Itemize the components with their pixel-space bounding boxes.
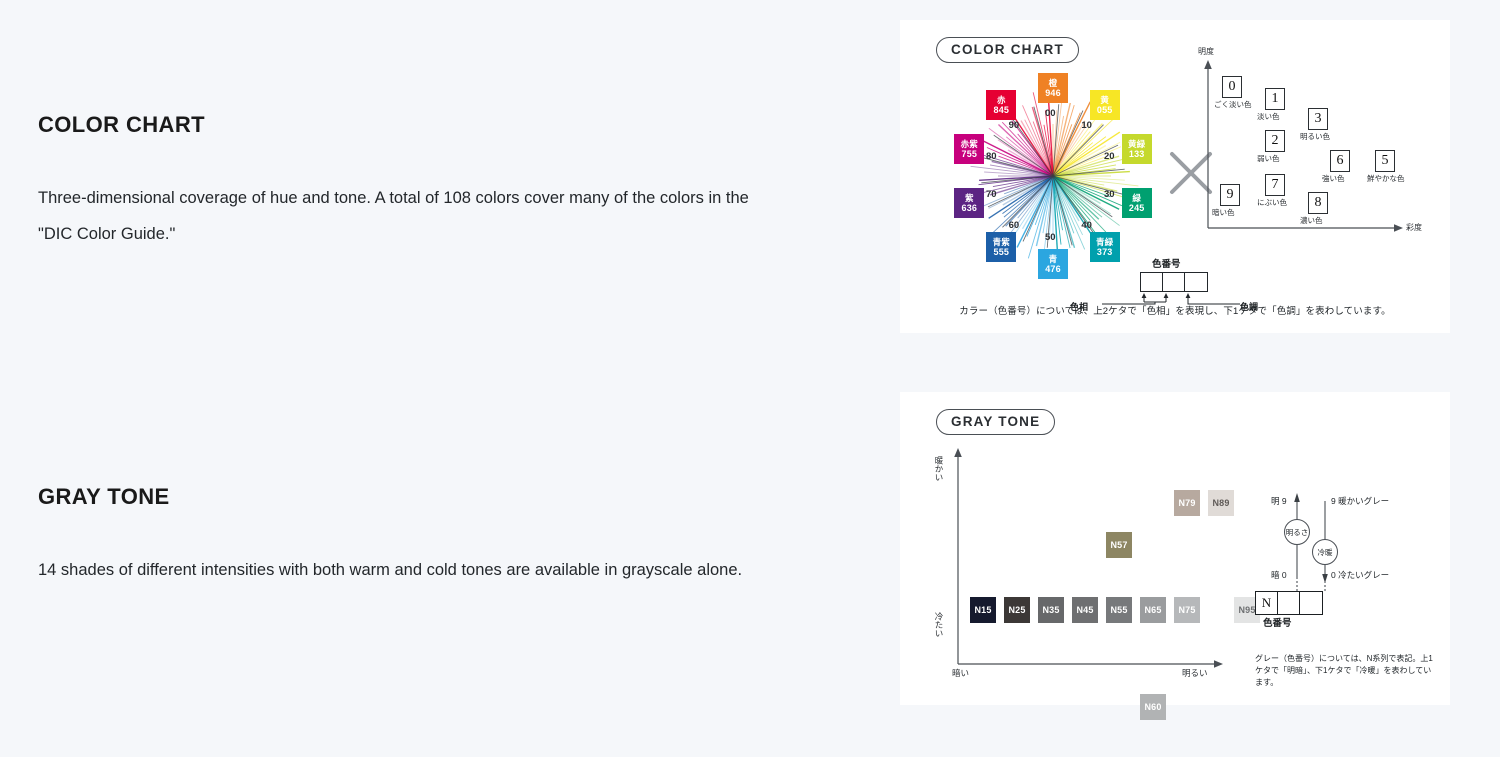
color-code-boxes: [1140, 272, 1208, 292]
gray-axis-top-label: 暖かい: [934, 456, 944, 482]
hue-swatch-jp-label: 黄: [1100, 95, 1109, 105]
color-chart-caption: カラー（色番号）については、上2ケタで「色相」を表現し、下1ケタで「色調」を表わ…: [900, 303, 1450, 317]
gray-code-caption: 色番号: [1263, 615, 1292, 629]
tone-box-1: 1: [1265, 88, 1285, 110]
hue-swatch-number: 476: [1045, 264, 1061, 274]
tone-box-0: 0: [1222, 76, 1242, 98]
hue-swatch-number: 245: [1129, 203, 1145, 213]
hue-swatch-jp-label: 青緑: [1096, 237, 1113, 247]
tone-caption-6: 強い色: [1322, 173, 1345, 184]
hue-swatch-133: 黄緑133: [1122, 134, 1152, 164]
n-cell-prefix: N: [1256, 592, 1278, 614]
gray-axis-bottom-label: 冷たい: [934, 612, 944, 638]
hue-swatch-jp-label: 橙: [1049, 78, 1058, 88]
hue-swatch-number: 636: [961, 203, 977, 213]
gray-code-legend: 明 9 暗 0 9 暖かいグレー 0 冷たいグレー 明るさ 冷暖 N 色番号 グ…: [1255, 487, 1435, 667]
hue-swatch-jp-label: 紫: [965, 193, 974, 203]
hue-number-label-00: 00: [1045, 108, 1056, 119]
gray-swatch-N60: N60: [1140, 694, 1166, 720]
hue-swatch-555: 青紫555: [986, 232, 1016, 262]
gray-swatch-N79: N79: [1174, 490, 1200, 516]
hue-swatch-476: 青476: [1038, 249, 1068, 279]
hue-swatch-845: 赤845: [986, 90, 1016, 120]
text-column: COLOR CHART Three-dimensional coverage o…: [0, 0, 880, 757]
gray-swatch-N15: N15: [970, 597, 996, 623]
gray-axis-right-label: 明るい: [1182, 668, 1208, 678]
tone-box-3: 3: [1308, 108, 1328, 130]
hue-swatch-245: 緑245: [1122, 188, 1152, 218]
gray-swatch-N89: N89: [1208, 490, 1234, 516]
hue-swatch-jp-label: 赤: [997, 95, 1006, 105]
gray-swatch-N57: N57: [1106, 532, 1132, 558]
hue-swatch-number: 373: [1097, 247, 1113, 257]
legend-warm-label: 9 暖かいグレー: [1331, 495, 1389, 507]
legend-brightness-circle: 明るさ: [1284, 519, 1310, 545]
tone-box-2: 2: [1265, 130, 1285, 152]
tone-grid-diagram: 明度 彩度 0ごく淡い色1淡い色3明るい色2弱い色6強い色5鮮やかな色7にぶい色…: [1190, 50, 1425, 250]
legend-bright-max-label: 明 9: [1271, 495, 1287, 507]
color-chart-heading: COLOR CHART: [38, 112, 205, 138]
hue-number-label-40: 40: [1081, 220, 1092, 231]
tone-box-7: 7: [1265, 174, 1285, 196]
gray-tone-badge: GRAY TONE: [936, 409, 1055, 435]
hue-swatch-number: 055: [1097, 105, 1113, 115]
tone-axis-x-label: 彩度: [1406, 222, 1422, 233]
legend-bright-min-label: 暗 0: [1271, 569, 1287, 581]
gray-tone-note: グレー（色番号）については、N系列で表記。上1ケタで「明暗」、下1ケタで「冷暖」…: [1255, 653, 1435, 689]
code-cell-1: [1141, 273, 1163, 291]
legend-warmth-circle: 冷暖: [1312, 539, 1338, 565]
hue-swatch-755: 赤紫755: [954, 134, 984, 164]
hue-swatch-number: 755: [961, 149, 977, 159]
tone-caption-8: 濃い色: [1300, 215, 1323, 226]
hue-swatch-number: 555: [993, 247, 1009, 257]
hue-number-label-30: 30: [1104, 189, 1115, 200]
tone-caption-5: 鮮やかな色: [1367, 173, 1405, 184]
hue-swatch-jp-label: 赤紫: [961, 139, 978, 149]
hue-swatch-055: 黄055: [1090, 90, 1120, 120]
hue-number-label-50: 50: [1045, 232, 1056, 243]
gray-tone-heading: GRAY TONE: [38, 484, 170, 510]
hue-swatch-jp-label: 青: [1049, 254, 1058, 264]
code-cell-2: [1163, 273, 1185, 291]
hue-swatch-jp-label: 緑: [1132, 193, 1141, 203]
hue-swatch-number: 845: [993, 105, 1009, 115]
gray-swatch-N75: N75: [1174, 597, 1200, 623]
color-chart-panel: COLOR CHART 橙946黄055黄緑133緑245青緑373青476青紫…: [900, 20, 1450, 333]
hue-number-label-70: 70: [986, 189, 997, 200]
hue-swatch-number: 946: [1045, 88, 1061, 98]
hue-swatch-jp-label: 青紫: [993, 237, 1010, 247]
tone-box-6: 6: [1330, 150, 1350, 172]
gray-code-boxes: N: [1255, 591, 1323, 615]
tone-caption-1: 淡い色: [1257, 111, 1280, 122]
tone-caption-9: 暗い色: [1212, 207, 1235, 218]
hue-number-label-20: 20: [1104, 151, 1115, 162]
hue-number-label-90: 90: [1009, 120, 1020, 131]
color-wheel-diagram: 橙946黄055黄緑133緑245青緑373青476青紫555紫636赤紫755…: [928, 58, 1178, 288]
tone-box-5: 5: [1375, 150, 1395, 172]
legend-cold-label: 0 冷たいグレー: [1331, 569, 1389, 581]
tone-caption-3: 明るい色: [1300, 131, 1330, 142]
code-cell-3: [1185, 273, 1207, 291]
gray-swatch-N65: N65: [1140, 597, 1166, 623]
n-cell-2: [1278, 592, 1300, 614]
tone-box-8: 8: [1308, 192, 1328, 214]
hue-number-label-80: 80: [986, 151, 997, 162]
hue-swatch-636: 紫636: [954, 188, 984, 218]
hue-number-label-10: 10: [1081, 120, 1092, 131]
hue-swatch-jp-label: 黄緑: [1128, 139, 1145, 149]
gray-axes-icon: [930, 442, 1230, 677]
gray-tone-description: 14 shades of different intensities with …: [38, 552, 768, 588]
hue-swatch-number: 133: [1129, 149, 1145, 159]
hue-swatch-946: 橙946: [1038, 73, 1068, 103]
page-root: COLOR CHART Three-dimensional coverage o…: [0, 0, 1500, 757]
gray-axis-left-label: 暗い: [952, 668, 969, 678]
gray-tone-panel: GRAY TONE 暖かい 冷たい 暗い 明るい N15N25N35N45N55…: [900, 392, 1450, 705]
gray-tone-diagram: 暖かい 冷たい 暗い 明るい N15N25N35N45N55N65N75N95N…: [930, 442, 1230, 677]
gray-swatch-N55: N55: [1106, 597, 1132, 623]
n-cell-3: [1300, 592, 1322, 614]
gray-swatch-N25: N25: [1004, 597, 1030, 623]
color-code-title: 色番号: [1152, 256, 1181, 270]
hue-number-label-60: 60: [1009, 220, 1020, 231]
color-chart-description: Three-dimensional coverage of hue and to…: [38, 180, 768, 252]
tone-axis-y-label: 明度: [1198, 46, 1214, 57]
gray-swatch-N45: N45: [1072, 597, 1098, 623]
tone-caption-7: にぶい色: [1257, 197, 1287, 208]
gray-swatch-N35: N35: [1038, 597, 1064, 623]
tone-caption-0: ごく淡い色: [1214, 99, 1252, 110]
tone-box-9: 9: [1220, 184, 1240, 206]
tone-caption-2: 弱い色: [1257, 153, 1280, 164]
